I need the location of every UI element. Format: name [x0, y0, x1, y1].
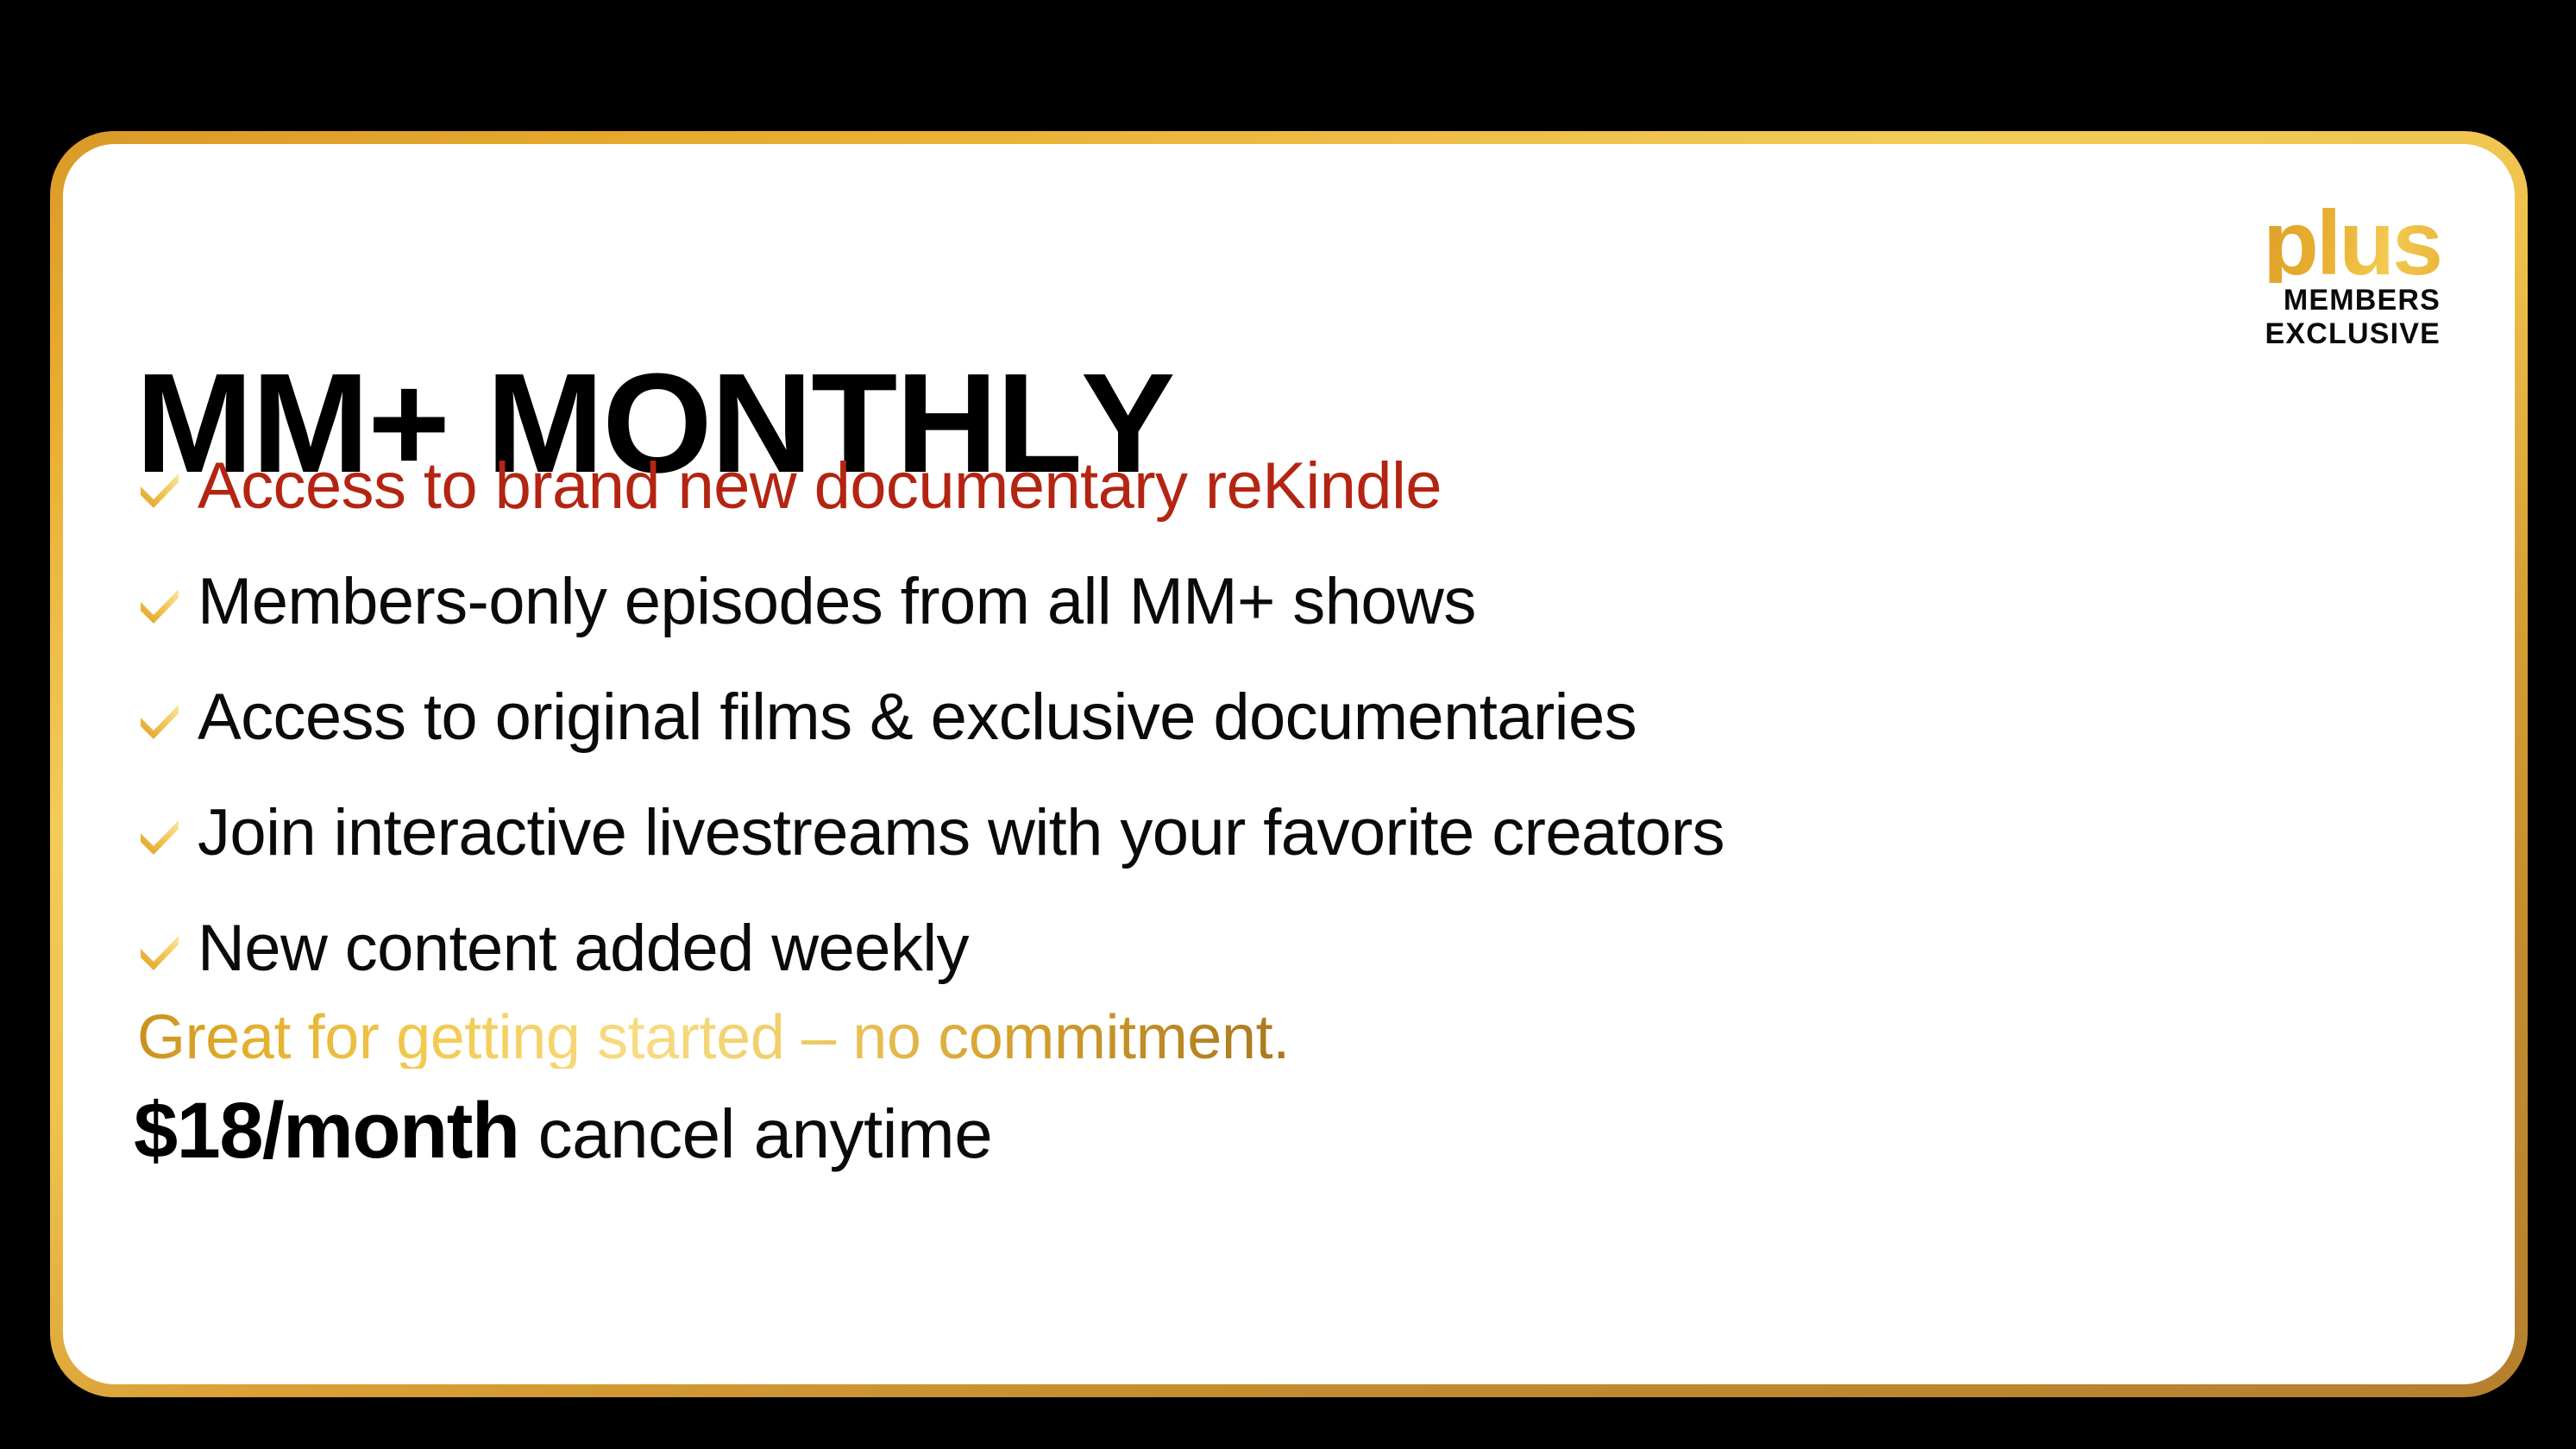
- exclusive-label: EXCLUSIVE: [2263, 318, 2441, 350]
- list-item: Access to original films & exclusive doc…: [137, 660, 2415, 775]
- list-item-label: Access to original films & exclusive doc…: [198, 685, 1637, 750]
- cancel-policy-note: cancel anytime: [538, 1100, 993, 1169]
- pricing-row: $18/month cancel anytime: [134, 1091, 992, 1170]
- screenshot-stage: plus MEMBERS EXCLUSIVE MM+ MONTHLY: [0, 0, 2576, 1449]
- tagline: Great for getting started – no commitmen…: [137, 1007, 1290, 1069]
- list-item: Members-only episodes from all MM+ shows: [137, 544, 2415, 660]
- membership-card-gold-frame: plus MEMBERS EXCLUSIVE MM+ MONTHLY: [50, 131, 2528, 1397]
- list-item-label: Members-only episodes from all MM+ shows: [198, 569, 1476, 635]
- list-item-label: Join interactive livestreams with your f…: [198, 800, 1725, 866]
- check-icon: [137, 812, 182, 857]
- list-item-label: Access to brand new documentary reKindle: [198, 454, 1442, 519]
- list-item: Access to brand new documentary reKindle: [137, 429, 2415, 544]
- membership-card: plus MEMBERS EXCLUSIVE MM+ MONTHLY: [63, 144, 2515, 1384]
- list-item-label: New content added weekly: [198, 916, 969, 982]
- list-item: New content added weekly: [137, 891, 2415, 1007]
- check-icon: [137, 697, 182, 742]
- plus-members-exclusive-logo: plus MEMBERS EXCLUSIVE: [2263, 204, 2441, 350]
- plus-wordmark: plus: [2263, 204, 2441, 283]
- members-label: MEMBERS: [2263, 285, 2441, 317]
- check-icon: [137, 581, 182, 626]
- check-icon: [137, 928, 182, 973]
- check-icon: [137, 466, 182, 511]
- price-amount: $18/month: [134, 1091, 519, 1170]
- list-item: Join interactive livestreams with your f…: [137, 775, 2415, 891]
- benefits-list: Access to brand new documentary reKindle: [137, 429, 2415, 1007]
